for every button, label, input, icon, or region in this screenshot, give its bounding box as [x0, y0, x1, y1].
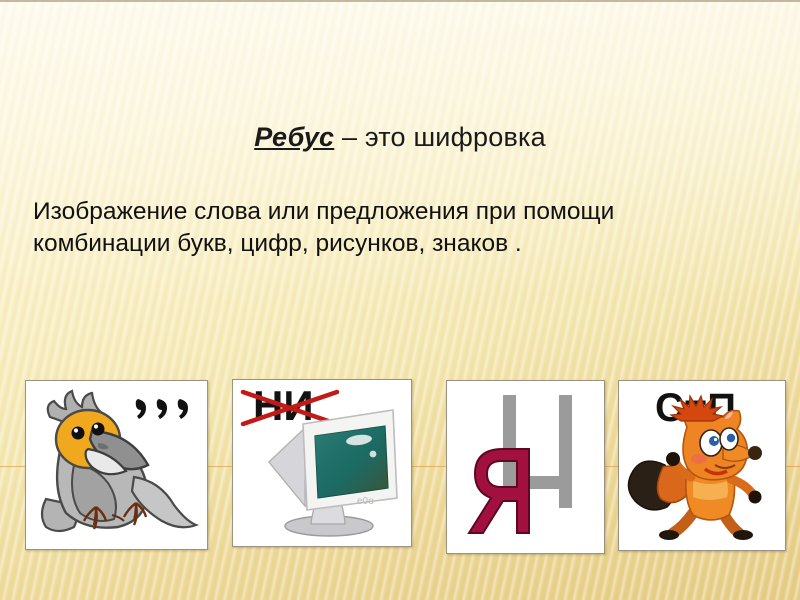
body-line-1: Изображение слова или предложения при по…	[33, 196, 693, 228]
puzzle-image-bird	[25, 380, 208, 550]
body-line-2: комбинации букв, цифр, рисунков, знаков …	[33, 228, 693, 260]
fox-illustration: С=П	[619, 381, 785, 550]
puzzle-image-letters	[446, 380, 605, 554]
slide-canvas: Ребус – это шифровка Изображение слова и…	[0, 0, 800, 600]
title-keyword: Ребус	[254, 122, 334, 152]
title-rest: – это шифровка	[334, 122, 546, 152]
bird-illustration	[26, 381, 207, 549]
body-paragraph: Изображение слова или предложения при по…	[33, 196, 693, 261]
letter-ya	[469, 449, 529, 533]
apostrophe-marks	[136, 399, 188, 419]
puzzle-image-fox: С=П	[618, 380, 786, 551]
svg-text:e0o: e0o	[357, 496, 374, 507]
letters-ya-tse-illustration	[447, 381, 604, 553]
page-title: Ребус – это шифровка	[0, 122, 800, 153]
slide-top-edge	[0, 0, 800, 2]
crt-monitor-illustration: НИ	[233, 380, 411, 546]
puzzle-image-monitor: НИ	[232, 379, 412, 547]
